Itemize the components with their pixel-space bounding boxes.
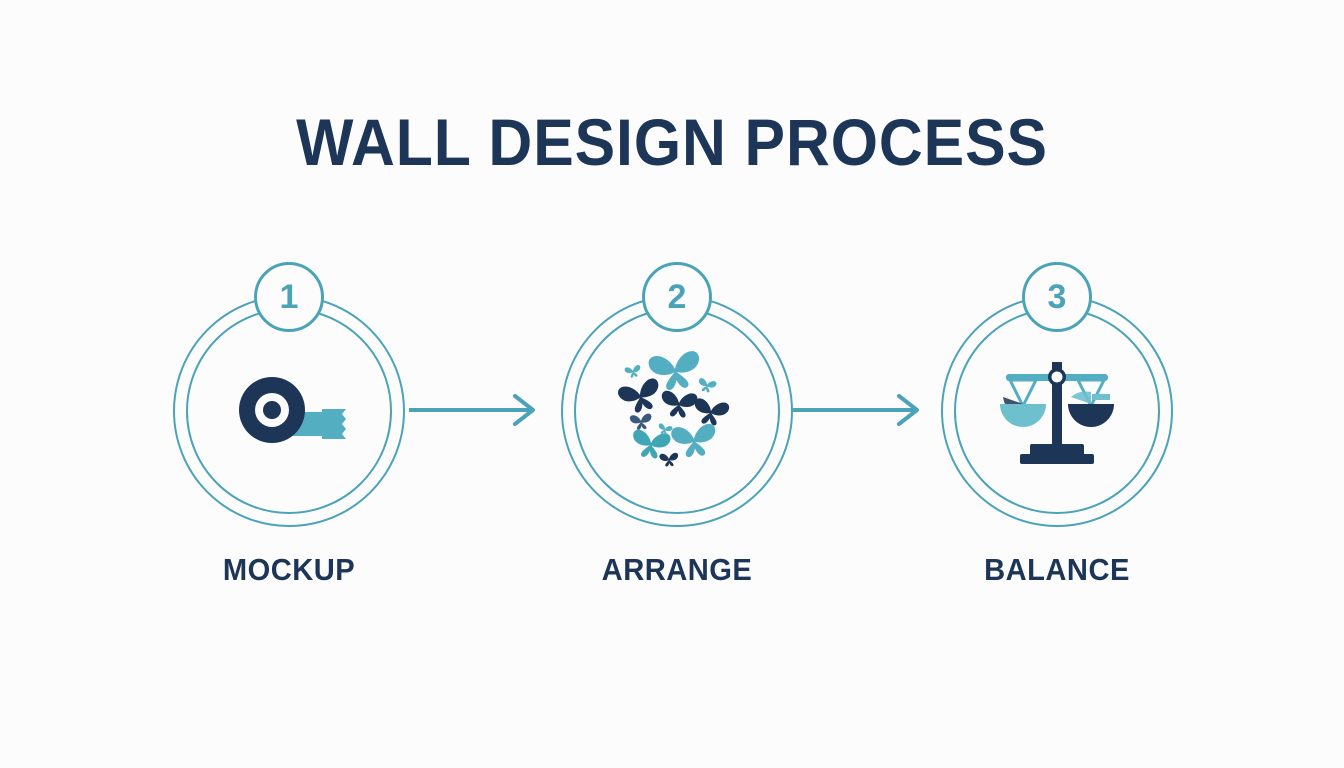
process-steps: 1: [0, 0, 1344, 768]
step-number-badge: 2: [642, 262, 712, 332]
step-label-arrange: ARRANGE: [527, 552, 828, 588]
step-label-balance: BALANCE: [907, 552, 1208, 588]
wall-design-process-infographic: WALL DESIGN PROCESS 1: [0, 0, 1344, 768]
process-step-arrange[interactable]: 2: [561, 295, 793, 527]
step-number-badge: 1: [254, 262, 324, 332]
tape-roll-icon: [209, 331, 369, 491]
butterflies-icon: [597, 331, 757, 491]
arrow-step2-to-step3: [793, 393, 925, 427]
arrow-step1-to-step2: [409, 393, 541, 427]
step-label-mockup: MOCKUP: [139, 552, 440, 588]
process-step-balance[interactable]: 3: [941, 295, 1173, 527]
balance-scale-icon: [977, 331, 1137, 491]
process-step-mockup[interactable]: 1: [173, 295, 405, 527]
step-number-badge: 3: [1022, 262, 1092, 332]
